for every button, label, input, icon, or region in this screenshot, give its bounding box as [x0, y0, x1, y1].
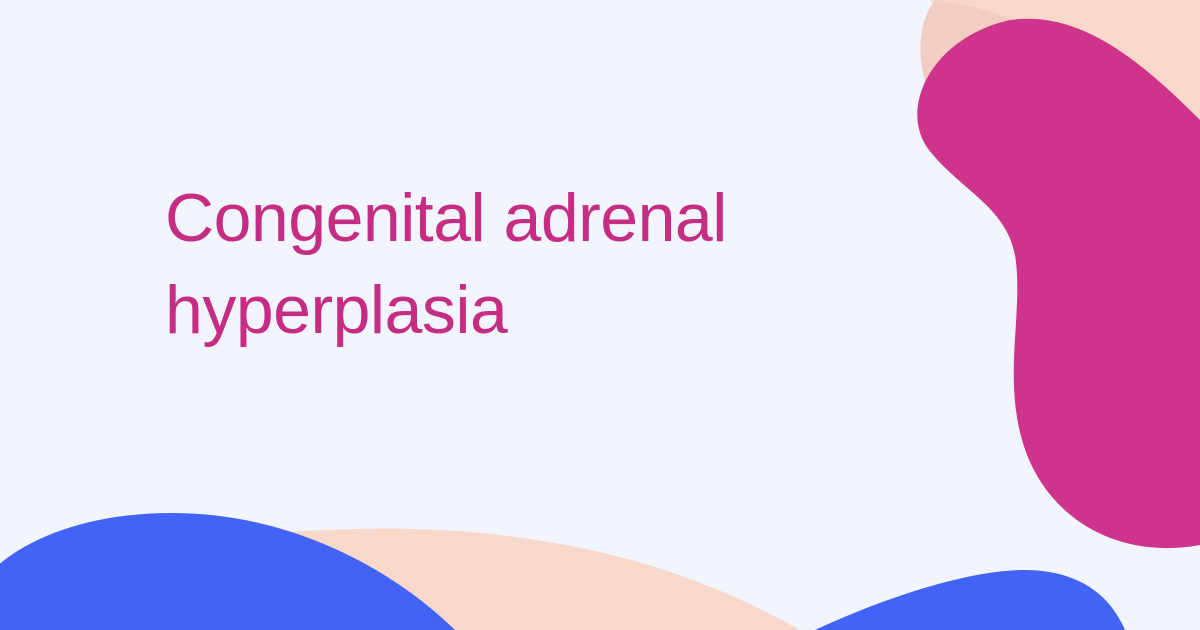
peach-blob-top-right-shape — [930, 0, 1200, 148]
blue-dome-bottom-left-shape — [0, 513, 455, 630]
peach-blob-top-right-fill-shape — [930, 0, 1200, 150]
title-block: Congenital adrenal hyperplasia — [165, 172, 905, 356]
blue-wave-bottom-right-shape — [815, 570, 1125, 630]
magenta-blob-right-shape — [917, 19, 1200, 548]
peach-blob-top-right-overlap-shape — [920, 0, 1200, 395]
open-graph-card: Congenital adrenal hyperplasia — [0, 0, 1200, 630]
peach-corner-fill-shape — [1040, 0, 1200, 200]
peach-wave-bottom-shape — [0, 529, 800, 630]
page-title: Congenital adrenal hyperplasia — [165, 172, 905, 356]
